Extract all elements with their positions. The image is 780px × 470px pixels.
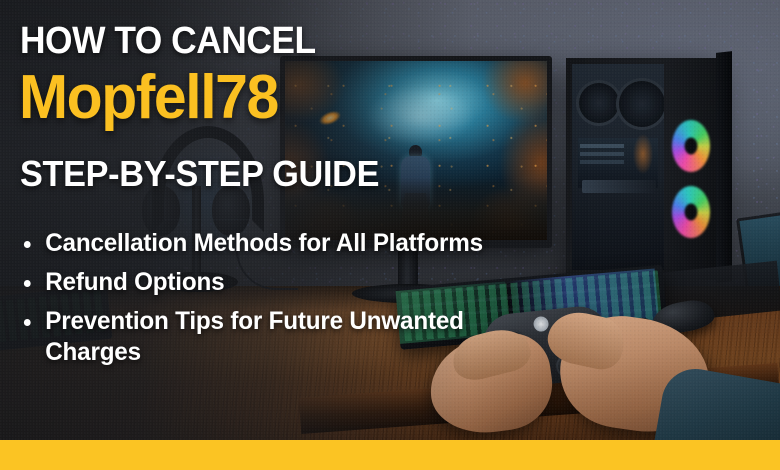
- brand-name-title: Mopfell78: [19, 66, 278, 130]
- list-item: Prevention Tips for Future Unwanted Char…: [20, 306, 544, 368]
- feature-bullet-list: Cancellation Methods for All Platforms R…: [20, 228, 560, 376]
- list-item: Refund Options: [20, 267, 544, 298]
- list-item: Cancellation Methods for All Platforms: [20, 228, 544, 259]
- text-content-layer: HOW TO CANCEL Mopfell78 STEP-BY-STEP GUI…: [0, 0, 780, 470]
- bottom-accent-bar: [0, 440, 780, 470]
- thumbnail-canvas: HOW TO CANCEL Mopfell78 STEP-BY-STEP GUI…: [0, 0, 780, 470]
- page-subtitle: STEP-BY-STEP GUIDE: [20, 155, 379, 193]
- page-title-line-1: HOW TO CANCEL: [20, 21, 316, 61]
